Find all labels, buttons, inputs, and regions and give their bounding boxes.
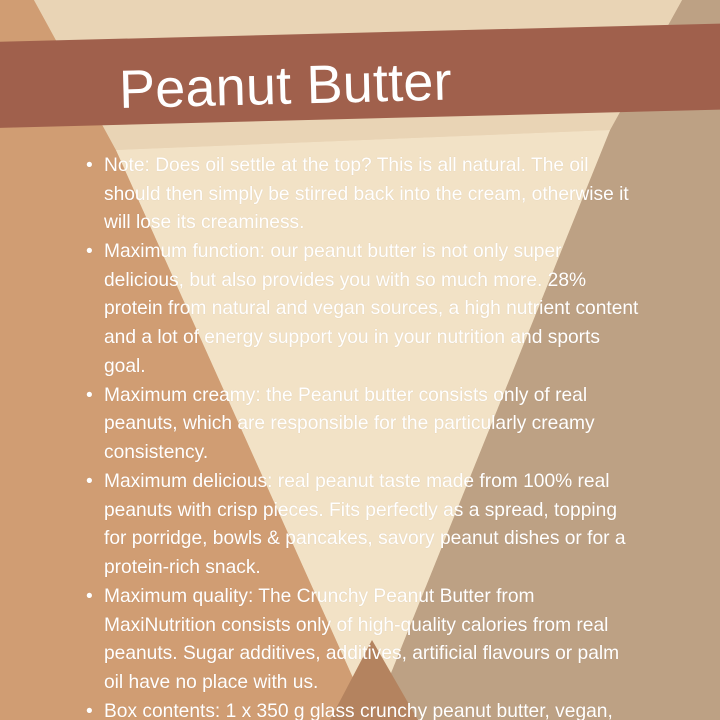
list-item: Maximum delicious: real peanut taste mad… <box>86 468 642 582</box>
list-item: Maximum quality: The Crunchy Peanut Butt… <box>86 583 642 697</box>
list-item: Maximum creamy: the Peanut butter consis… <box>86 382 642 468</box>
list-item: Box contents: 1 x 350 g glass crunchy pe… <box>86 698 642 720</box>
title-banner <box>0 23 720 128</box>
list-item: Maximum function: our peanut butter is n… <box>86 238 642 381</box>
product-description-slide: Peanut Butter Note: Does oil settle at t… <box>0 0 720 720</box>
feature-bullet-list: Note: Does oil settle at the top? This i… <box>86 152 642 720</box>
list-item: Note: Does oil settle at the top? This i… <box>86 152 642 238</box>
